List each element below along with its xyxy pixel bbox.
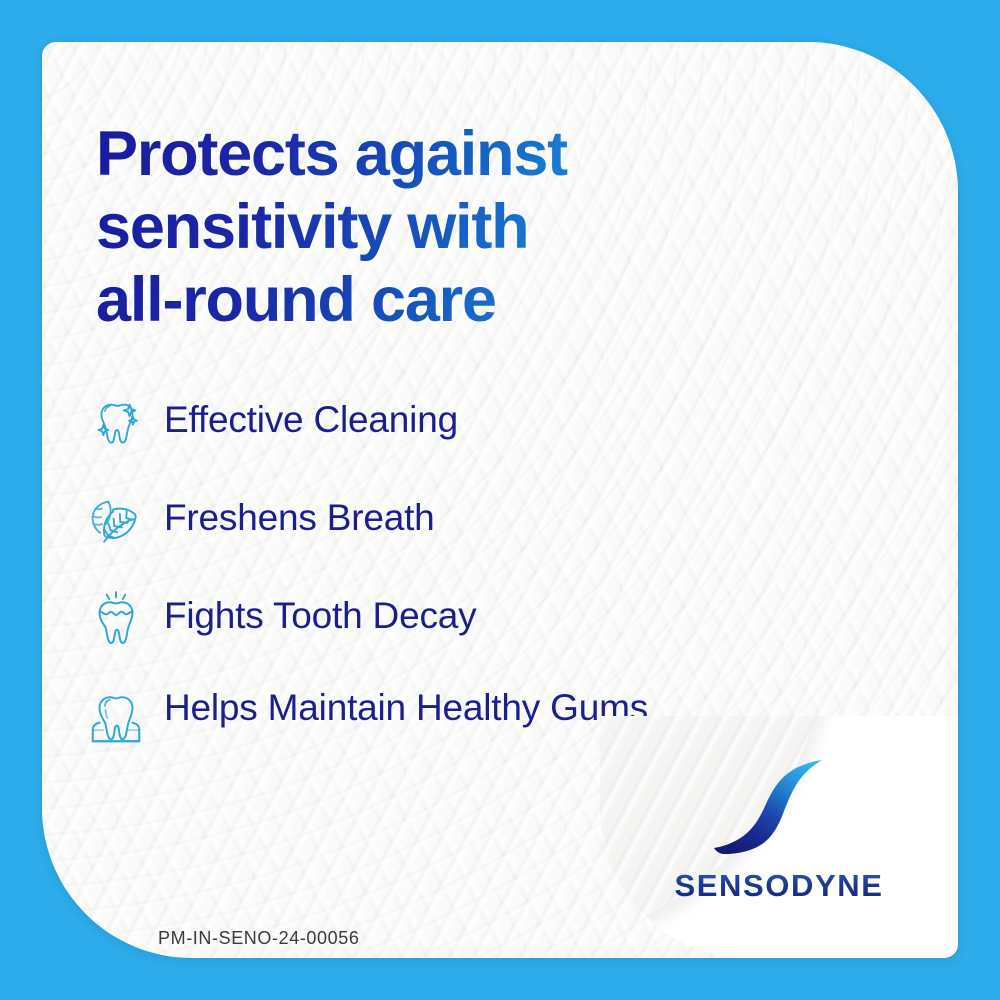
sparkle-tooth-icon bbox=[78, 388, 154, 460]
legal-code: PM-IN-SENO-24-00056 bbox=[158, 928, 359, 949]
brand-panel: SENSODYNE bbox=[600, 716, 958, 958]
sensodyne-swoosh-icon bbox=[708, 744, 858, 862]
list-item-label: Freshens Breath bbox=[154, 486, 718, 541]
list-item: Fights Tooth Decay bbox=[78, 584, 718, 656]
ad-canvas: Protects against sensitivity with all-ro… bbox=[0, 0, 1000, 1000]
cavity-tooth-icon bbox=[78, 584, 154, 656]
tooth-in-gums-icon bbox=[78, 682, 154, 754]
page-title: Protects against sensitivity with all-ro… bbox=[96, 118, 736, 337]
list-item: Effective Cleaning bbox=[78, 388, 718, 460]
list-item-label: Effective Cleaning bbox=[154, 388, 718, 443]
brand-wordmark: SENSODYNE bbox=[600, 868, 958, 904]
list-item-label: Fights Tooth Decay bbox=[154, 584, 718, 639]
mint-leaf-icon bbox=[78, 486, 154, 558]
list-item: Freshens Breath bbox=[78, 486, 718, 558]
